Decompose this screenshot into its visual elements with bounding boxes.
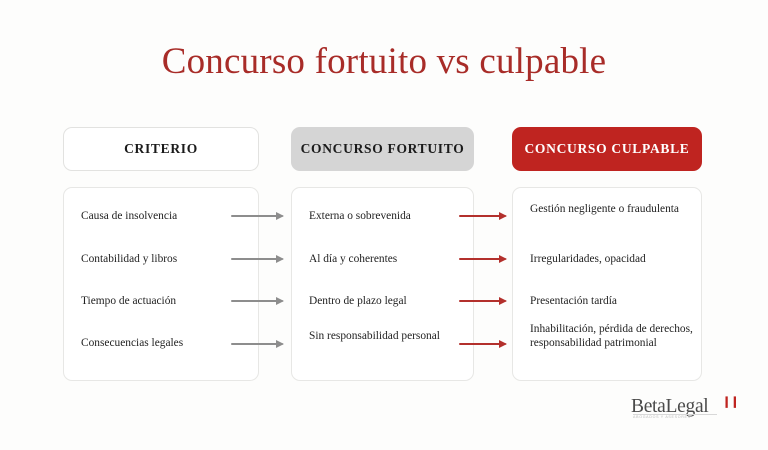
- list-item: Dentro de plazo legal: [309, 295, 469, 309]
- arrow-right-gray-icon: [231, 215, 283, 217]
- column-header-criterio: CRITERIO: [63, 127, 259, 171]
- brand-logo: BetaLegal ❙❙ ABOGADOS Y ASESORES: [631, 396, 741, 424]
- list-item: Gestión negligente o fraudulenta: [530, 203, 696, 217]
- list-item: Inhabilitación, pérdida de derechos, res…: [530, 323, 696, 350]
- arrow-head: [276, 255, 284, 263]
- arrow-right-gray-icon: [231, 300, 283, 302]
- list-item: Al día y coherentes: [309, 253, 469, 267]
- list-item: Causa de insolvencia: [81, 210, 251, 224]
- arrow-head: [276, 212, 284, 220]
- arrow-head: [499, 212, 507, 220]
- column-header-concurso-culpable-label: CONCURSO CULPABLE: [524, 141, 689, 157]
- list-item: Sin responsabilidad personal: [309, 330, 469, 344]
- list-item: Consecuencias legales: [81, 337, 251, 351]
- list-item: Irregularidades, opacidad: [530, 253, 696, 267]
- list-item: Externa o sobrevenida: [309, 210, 469, 224]
- list-item: Presentación tardía: [530, 295, 696, 309]
- arrow-head: [499, 297, 507, 305]
- arrow-head: [499, 340, 507, 348]
- arrow-right-red-icon: [459, 258, 506, 260]
- arrow-head: [276, 340, 284, 348]
- arrow-right-red-icon: [459, 343, 506, 345]
- list-item: Contabilidad y libros: [81, 253, 251, 267]
- arrow-head: [499, 255, 507, 263]
- column-header-criterio-label: CRITERIO: [124, 141, 198, 157]
- arrow-right-red-icon: [459, 300, 506, 302]
- brand-logo-tagline: ABOGADOS Y ASESORES: [633, 415, 691, 419]
- brand-logo-mark-icon: ❙❙: [722, 395, 738, 408]
- column-header-concurso-fortuito: CONCURSO FORTUITO: [291, 127, 474, 171]
- column-header-concurso-fortuito-label: CONCURSO FORTUITO: [301, 141, 465, 157]
- page-title: Concurso fortuito vs culpable: [0, 40, 768, 83]
- column-panel-concurso-fortuito: Externa o sobrevenida Al día y coherente…: [291, 187, 474, 381]
- column-panel-concurso-culpable: Gestión negligente o fraudulenta Irregul…: [512, 187, 702, 381]
- arrow-right-gray-icon: [231, 258, 283, 260]
- arrow-right-red-icon: [459, 215, 506, 217]
- arrow-head: [276, 297, 284, 305]
- arrow-right-gray-icon: [231, 343, 283, 345]
- list-item: Tiempo de actuación: [81, 295, 251, 309]
- column-panel-criterio: Causa de insolvencia Contabilidad y libr…: [63, 187, 259, 381]
- column-header-concurso-culpable: CONCURSO CULPABLE: [512, 127, 702, 171]
